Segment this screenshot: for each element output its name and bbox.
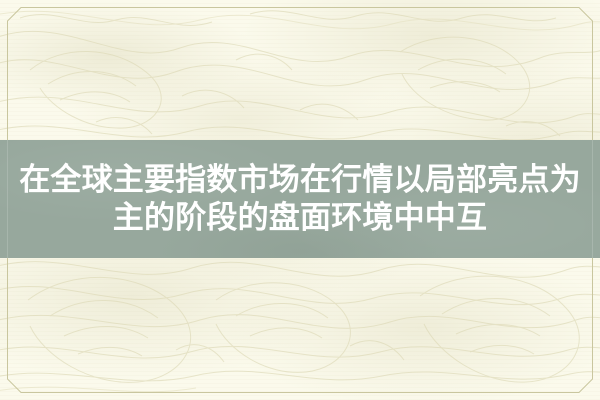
article-banner: 在全球主要指数市场在行情以局部亮点为主的阶段的盘面环境中中互: [0, 0, 600, 400]
title-band: 在全球主要指数市场在行情以局部亮点为主的阶段的盘面环境中中互: [0, 140, 600, 258]
banner-title: 在全球主要指数市场在行情以局部亮点为主的阶段的盘面环境中中互: [0, 161, 600, 237]
